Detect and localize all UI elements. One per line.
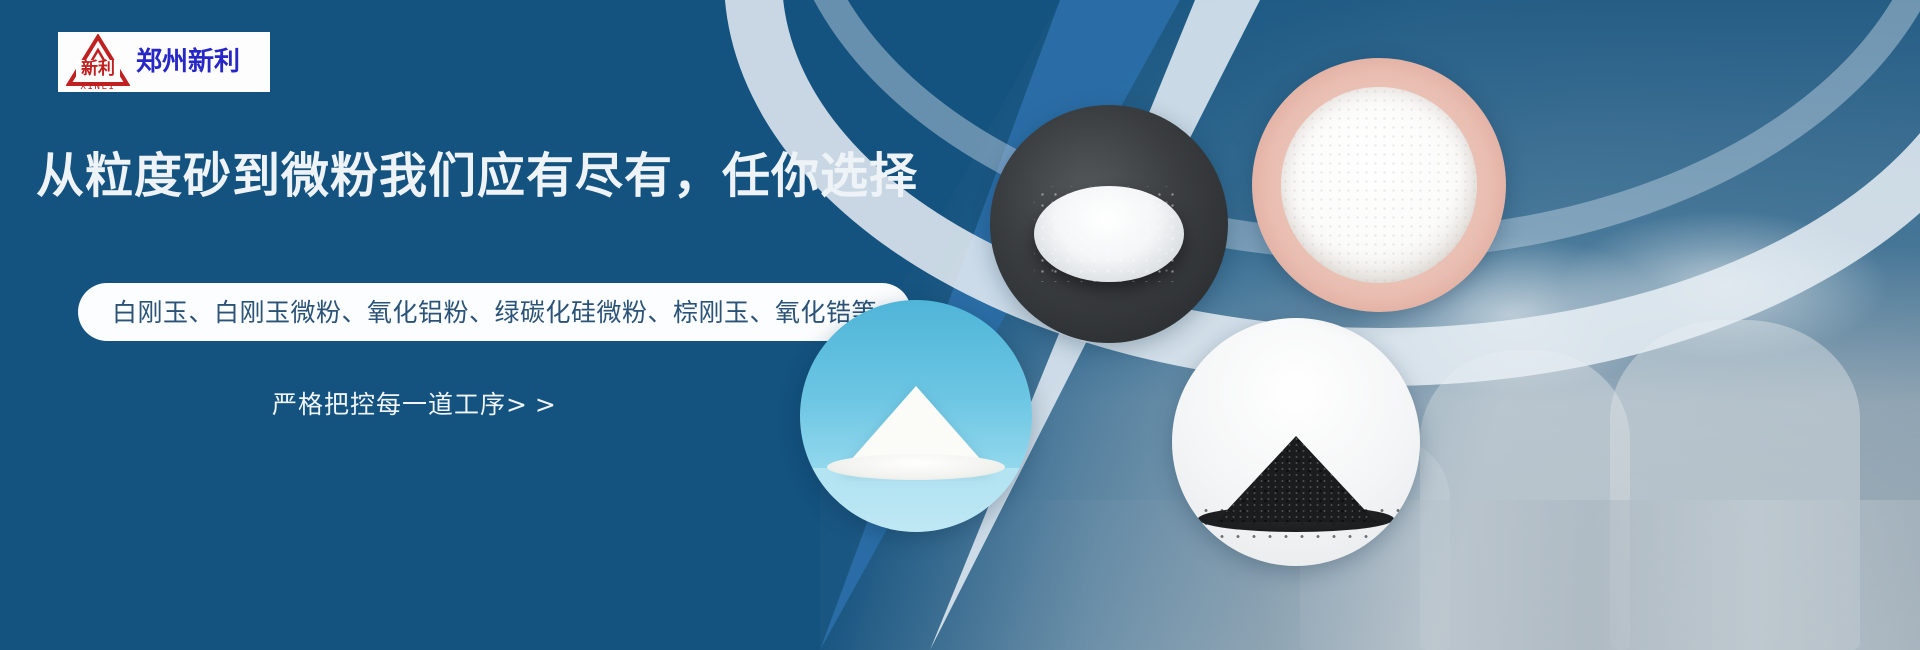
product-circle-black-grit[interactable] xyxy=(1172,318,1420,566)
promo-banner: 新利 XINLI 郑州新利 从粒度砂到微粉我们应有尽有，任你选择 白刚玉、白刚玉… xyxy=(0,0,1920,650)
page-title: 从粒度砂到微粉我们应有尽有，任你选择 xyxy=(36,152,918,200)
powder-base-ellipse xyxy=(827,454,1005,480)
cta-arrows: > > xyxy=(506,390,556,419)
powder-surface xyxy=(1281,87,1477,283)
xinli-triangle-mark-icon: 新利 XINLI xyxy=(66,34,130,90)
logo-company-name: 郑州新利 xyxy=(136,49,240,75)
product-circle-white-grit[interactable] xyxy=(990,105,1228,343)
grit-texture xyxy=(1034,186,1184,282)
process-control-link[interactable]: 严格把控每一道工序> > xyxy=(272,385,556,421)
product-circle-white-powder-cone[interactable] xyxy=(800,300,1032,532)
xinli-pinyin-text: XINLI xyxy=(80,82,115,90)
powder-texture xyxy=(1281,87,1477,283)
company-logo[interactable]: 新利 XINLI 郑州新利 xyxy=(58,32,270,92)
grit-heap-shape xyxy=(1034,186,1184,282)
cta-label: 严格把控每一道工序 xyxy=(272,390,506,419)
scattered-grains xyxy=(1182,504,1410,544)
product-list-pill[interactable]: 白刚玉、白刚玉微粉、氧化铝粉、绿碳化硅微粉、棕刚玉、氧化锆等 xyxy=(78,283,911,341)
xinli-mark-text: 新利 xyxy=(81,58,115,79)
product-list-text: 白刚玉、白刚玉微粉、氧化铝粉、绿碳化硅微粉、棕刚玉、氧化锆等 xyxy=(112,300,877,325)
product-circle-white-micropowder[interactable] xyxy=(1252,58,1506,312)
